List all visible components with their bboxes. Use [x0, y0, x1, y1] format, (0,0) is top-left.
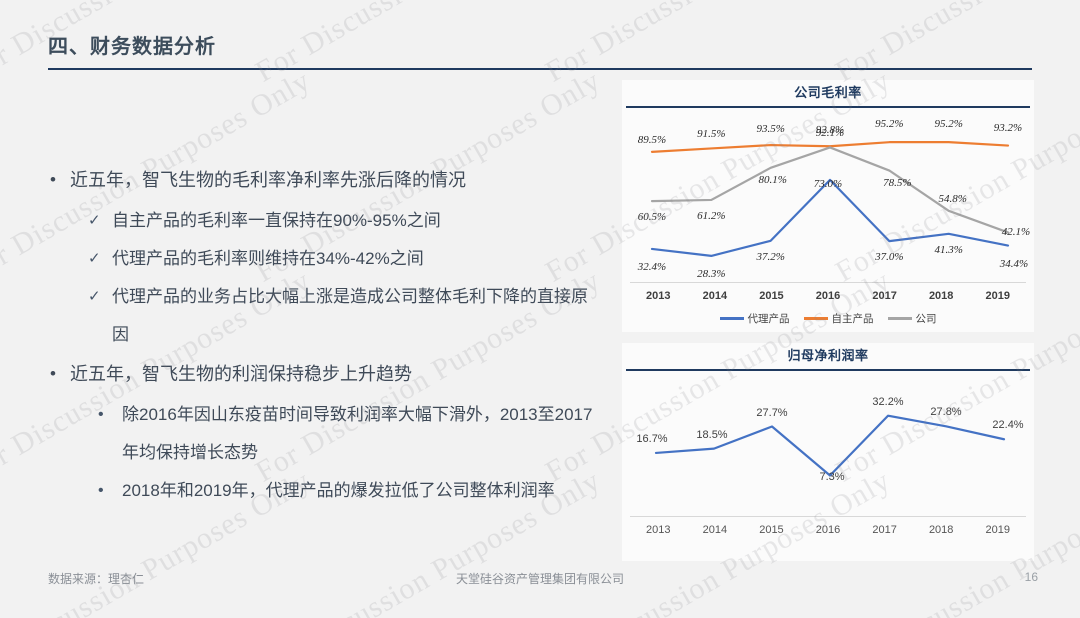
data-label: 95.2%	[934, 118, 962, 130]
data-label: 54.8%	[938, 193, 966, 205]
x-tick-label: 2016	[800, 524, 857, 536]
data-label: 32.4%	[638, 261, 666, 273]
bullet-marker: •	[98, 472, 122, 510]
data-label: 37.0%	[875, 251, 903, 263]
x-tick-label: 2015	[743, 290, 800, 302]
bullet-item: • 除2016年因山东疫苗时间导致利润率大幅下滑外，2013至2017年均保持增…	[98, 396, 604, 472]
legend-label: 公司	[916, 311, 937, 326]
bullet-text: 2018年和2019年，代理产品的爆发拉低了公司整体利润率	[122, 472, 604, 510]
data-label: 42.1%	[1002, 226, 1030, 238]
data-label: 93.5%	[756, 123, 784, 135]
check-icon: ✓	[88, 202, 112, 240]
data-label: 18.5%	[696, 429, 727, 441]
bullet-text: 除2016年因山东疫苗时间导致利润率大幅下滑外，2013至2017年均保持增长态…	[122, 396, 604, 472]
chart-svg	[622, 371, 1034, 516]
chart-plot-area: 32.4%28.3%37.2%73.0%37.0%41.3%34.4%89.5%…	[622, 108, 1034, 282]
page-number: 16	[1025, 570, 1038, 584]
chart-net-profit-margin: 归母净利润率 16.7%18.5%27.7%7.3%32.2%27.8%22.4…	[622, 343, 1034, 561]
data-label: 89.5%	[638, 134, 666, 146]
title-underline	[48, 68, 1032, 70]
check-icon: ✓	[88, 278, 112, 316]
bullet-item: • 2018年和2019年，代理产品的爆发拉低了公司整体利润率	[98, 472, 604, 510]
x-tick-label: 2018	[913, 290, 970, 302]
data-label: 22.4%	[992, 419, 1023, 431]
data-label: 92.1%	[816, 127, 844, 139]
bullet-text: 近五年，智飞生物的毛利率净利率先涨后降的情况	[70, 160, 604, 200]
chart-x-axis: 2013201420152016201720182019	[630, 516, 1026, 536]
series-line	[656, 416, 1004, 476]
bullet-item: • 近五年，智飞生物的利润保持稳步上升趋势	[44, 354, 604, 394]
bullet-text: 近五年，智飞生物的利润保持稳步上升趋势	[70, 354, 604, 394]
bullet-marker: •	[44, 354, 70, 394]
data-label: 28.3%	[697, 268, 725, 280]
legend-swatch	[804, 317, 828, 320]
x-tick-label: 2019	[969, 290, 1026, 302]
data-label: 61.2%	[697, 210, 725, 222]
data-label: 41.3%	[934, 244, 962, 256]
legend-item[interactable]: 代理产品	[720, 311, 790, 326]
slide-canvas: For Discussion Purposes OnlyFor Discussi…	[0, 0, 1080, 618]
page-title: 四、财务数据分析	[48, 30, 1032, 68]
data-label: 60.5%	[638, 211, 666, 223]
data-label: 27.8%	[930, 406, 961, 418]
chart-title: 归母净利润率	[622, 343, 1034, 364]
x-tick-label: 2013	[630, 524, 687, 536]
x-tick-label: 2013	[630, 290, 687, 302]
check-icon: ✓	[88, 240, 112, 278]
legend-label: 代理产品	[748, 311, 790, 326]
data-label: 34.4%	[1000, 258, 1028, 270]
footer-company: 天堂硅谷资产管理集团有限公司	[0, 570, 1080, 587]
data-label: 78.5%	[883, 177, 911, 189]
chart-legend: 代理产品自主产品公司	[622, 311, 1034, 326]
slide-header: 四、财务数据分析	[48, 30, 1032, 70]
bullet-marker: •	[98, 396, 122, 434]
legend-swatch	[888, 317, 912, 320]
data-label: 95.2%	[875, 118, 903, 130]
bullet-text: 代理产品的毛利率则维持在34%-42%之间	[112, 240, 604, 278]
chart-x-axis: 2013201420152016201720182019	[630, 282, 1026, 302]
data-label: 32.2%	[872, 396, 903, 408]
x-tick-label: 2016	[800, 290, 857, 302]
data-label: 16.7%	[636, 433, 667, 445]
bullet-item: ✓ 自主产品的毛利率一直保持在90%-95%之间	[88, 202, 604, 240]
x-tick-label: 2017	[856, 290, 913, 302]
data-label: 73.0%	[814, 178, 842, 190]
legend-swatch	[720, 317, 744, 320]
bullet-marker: •	[44, 160, 70, 200]
x-tick-label: 2015	[743, 524, 800, 536]
data-label: 7.3%	[819, 471, 844, 483]
data-label: 27.7%	[756, 407, 787, 419]
bullet-item: • 近五年，智飞生物的毛利率净利率先涨后降的情况	[44, 160, 604, 200]
x-tick-label: 2019	[969, 524, 1026, 536]
legend-item[interactable]: 自主产品	[804, 311, 874, 326]
data-label: 80.1%	[758, 174, 786, 186]
slide-footer: 数据来源：理杏仁 天堂硅谷资产管理集团有限公司 16	[0, 570, 1080, 590]
chart-title: 公司毛利率	[622, 80, 1034, 101]
data-label: 93.2%	[994, 122, 1022, 134]
x-tick-label: 2014	[687, 524, 744, 536]
bullet-list: • 近五年，智飞生物的毛利率净利率先涨后降的情况 ✓ 自主产品的毛利率一直保持在…	[44, 160, 604, 510]
bullet-item: ✓ 代理产品的毛利率则维持在34%-42%之间	[88, 240, 604, 278]
x-tick-label: 2017	[856, 524, 913, 536]
x-tick-label: 2018	[913, 524, 970, 536]
legend-label: 自主产品	[832, 311, 874, 326]
data-label: 37.2%	[756, 251, 784, 263]
data-label: 91.5%	[697, 128, 725, 140]
chart-plot-area: 16.7%18.5%27.7%7.3%32.2%27.8%22.4%	[622, 371, 1034, 516]
legend-item[interactable]: 公司	[888, 311, 937, 326]
chart-gross-margin: 公司毛利率 32.4%28.3%37.2%73.0%37.0%41.3%34.4…	[622, 80, 1034, 332]
bullet-text: 代理产品的业务占比大幅上涨是造成公司整体毛利下降的直接原因	[112, 278, 604, 354]
bullet-item: ✓ 代理产品的业务占比大幅上涨是造成公司整体毛利下降的直接原因	[88, 278, 604, 354]
bullet-text: 自主产品的毛利率一直保持在90%-95%之间	[112, 202, 604, 240]
x-tick-label: 2014	[687, 290, 744, 302]
